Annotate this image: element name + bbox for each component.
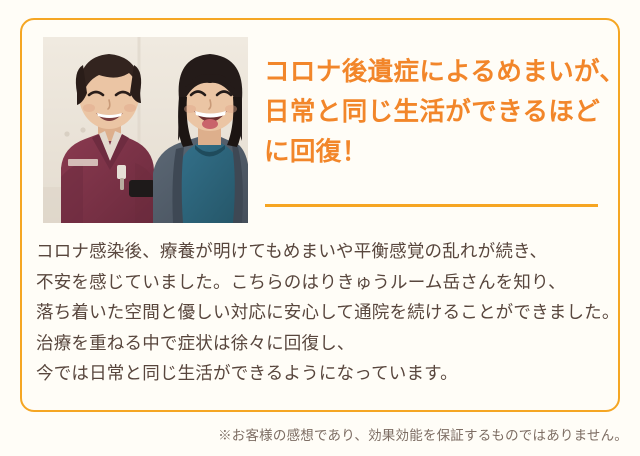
testimonial-line-3: 落ち着いた空間と優しい対応に安心して通院を続けることができました。 — [36, 297, 608, 328]
headline-divider — [265, 204, 598, 207]
disclaimer-note: ※お客様の感想であり、効果効能を保証するものではありません。 — [0, 424, 628, 444]
testimonial-line-4: 治療を重ねる中で症状は徐々に回復し、 — [36, 328, 608, 359]
headline-line-2: 日常と同じ生活ができるほど — [264, 92, 610, 132]
testimonial-line-1: コロナ感染後、療養が明けてもめまいや平衡感覚の乱れが続き、 — [36, 236, 608, 267]
testimonial-line-2: 不安を感じていました。こちらのはりきゅうルーム岳さんを知り、 — [36, 267, 608, 298]
customer-photo — [43, 37, 248, 223]
headline: コロナ後遺症によるめまいが、 日常と同じ生活ができるほど に回復！ — [264, 52, 610, 172]
testimonial-line-5: 今では日常と同じ生活ができるようになっています。 — [36, 358, 608, 389]
headline-line-3: に回復！ — [264, 132, 610, 172]
testimonial-text: コロナ感染後、療養が明けてもめまいや平衡感覚の乱れが続き、 不安を感じていました… — [36, 236, 608, 389]
customer-photo-illustration — [43, 37, 248, 223]
testimonial-banner: コロナ後遺症によるめまいが、 日常と同じ生活ができるほど に回復！ コロナ感染後… — [0, 0, 640, 456]
headline-line-1: コロナ後遺症によるめまいが、 — [264, 52, 610, 92]
